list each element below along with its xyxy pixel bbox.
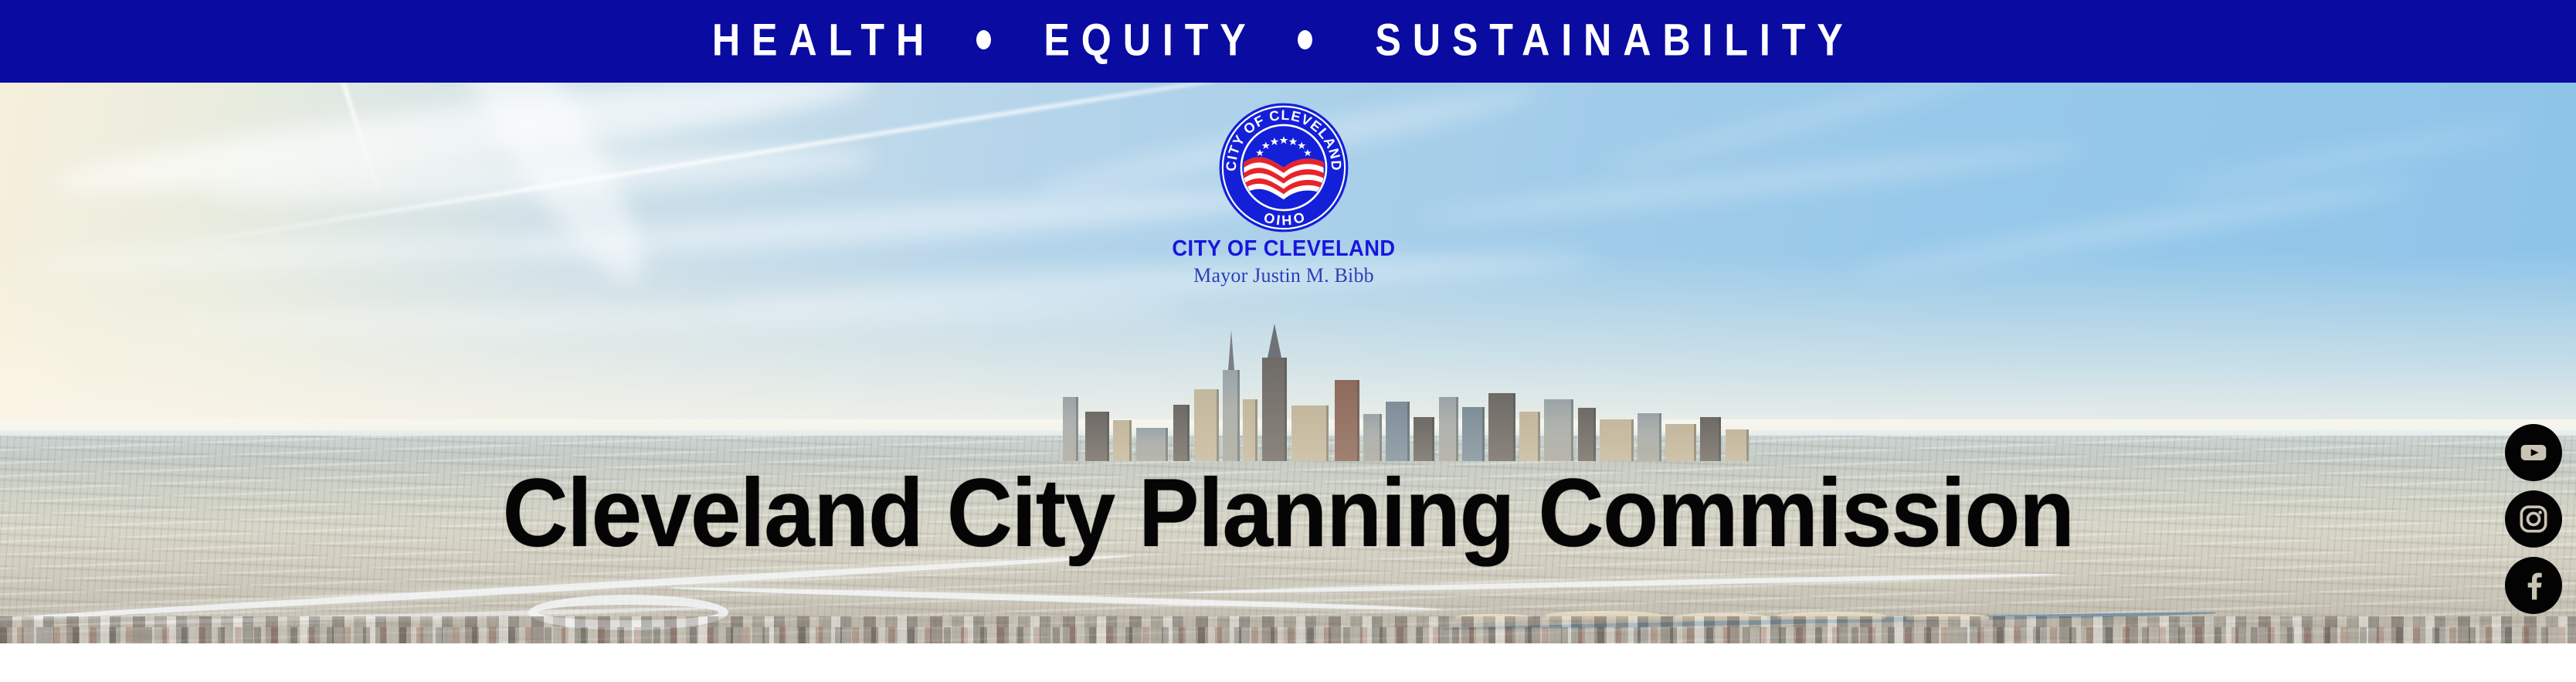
foreground-rooftops-near bbox=[0, 627, 2576, 643]
social-links-rail bbox=[2500, 424, 2567, 614]
skyline-building bbox=[1386, 402, 1410, 461]
skyline-building bbox=[1291, 405, 1329, 461]
tagline-inner: HEALTH EQUITY SUSTAINABILITY bbox=[704, 19, 1872, 61]
skyline-building bbox=[1665, 424, 1696, 461]
skyline-building bbox=[1439, 397, 1458, 461]
bottom-white-strip bbox=[0, 643, 2576, 682]
tagline-word-equity: EQUITY bbox=[1044, 17, 1257, 62]
key-tower-spire bbox=[1268, 324, 1281, 358]
downtown-skyline bbox=[1056, 338, 1751, 461]
skyline-building bbox=[1063, 397, 1078, 461]
skyline-building bbox=[1600, 419, 1633, 461]
bullet-dot-icon bbox=[976, 30, 991, 49]
skyline-building bbox=[1578, 408, 1596, 461]
skyline-building bbox=[1363, 414, 1381, 461]
skyline-building bbox=[1462, 407, 1485, 461]
bullet-dot-icon bbox=[1298, 30, 1312, 49]
tagline-word-health: HEALTH bbox=[712, 17, 935, 62]
skyline-building bbox=[1638, 413, 1661, 461]
social-link-facebook[interactable] bbox=[2505, 557, 2562, 614]
skyline-building bbox=[1414, 417, 1434, 461]
skyline-building bbox=[1488, 393, 1515, 461]
skyline-building bbox=[1519, 412, 1540, 461]
skyline-building-terminal-tower bbox=[1223, 370, 1240, 461]
city-of-cleveland-seal-icon: CITY OF CLEVELAND OHIO bbox=[1217, 101, 1350, 234]
facebook-icon bbox=[2518, 570, 2549, 601]
city-branding-block: CITY OF CLEVELAND OHIO bbox=[1114, 101, 1454, 287]
tagline-bar: HEALTH EQUITY SUSTAINABILITY bbox=[0, 0, 2576, 83]
skyline-building bbox=[1136, 428, 1168, 461]
instagram-icon bbox=[2518, 504, 2549, 534]
terminal-tower-spire bbox=[1228, 330, 1234, 370]
skyline-building bbox=[1173, 405, 1190, 461]
seal-wordmark-subtitle: Mayor Justin M. Bibb bbox=[1114, 265, 1454, 287]
seal-wordmark-title: CITY OF CLEVELAND bbox=[1124, 237, 1444, 260]
skyline-building bbox=[1726, 429, 1750, 462]
social-link-youtube[interactable] bbox=[2505, 424, 2562, 481]
skyline-building-key-tower bbox=[1262, 358, 1287, 461]
skyline-building bbox=[1194, 389, 1219, 461]
skyline-building bbox=[1243, 399, 1258, 461]
skyline-building bbox=[1113, 420, 1131, 461]
page-title: Cleveland City Planning Commission bbox=[0, 465, 2576, 562]
tagline-word-sustainability: SUSTAINABILITY bbox=[1375, 17, 1854, 62]
youtube-icon bbox=[2518, 437, 2549, 468]
social-link-instagram[interactable] bbox=[2505, 490, 2562, 548]
skyline-building bbox=[1544, 399, 1573, 461]
skyline-building bbox=[1085, 412, 1109, 461]
skyline-building bbox=[1700, 417, 1721, 461]
page-root: HEALTH EQUITY SUSTAINABILITY bbox=[0, 0, 2576, 682]
hero-photo: CITY OF CLEVELAND OHIO bbox=[0, 83, 2576, 643]
skyline-building-200-public-square bbox=[1335, 380, 1359, 461]
